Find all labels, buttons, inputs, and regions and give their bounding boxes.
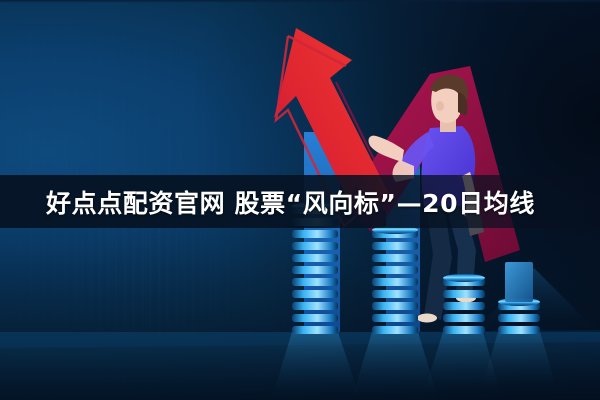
title-band: 好点点配资官网 股票“风向标”—20日均线 bbox=[0, 175, 600, 228]
coin-stack-3 bbox=[443, 274, 485, 334]
coin-stack-2 bbox=[372, 226, 418, 334]
page-title: 好点点配资官网 股票“风向标”—20日均线 bbox=[46, 184, 535, 220]
person-shoe-back bbox=[417, 314, 437, 323]
banner-image: 好点点配资官网 股票“风向标”—20日均线 bbox=[0, 0, 600, 400]
person-ear bbox=[436, 101, 444, 111]
bank-note bbox=[505, 262, 533, 302]
